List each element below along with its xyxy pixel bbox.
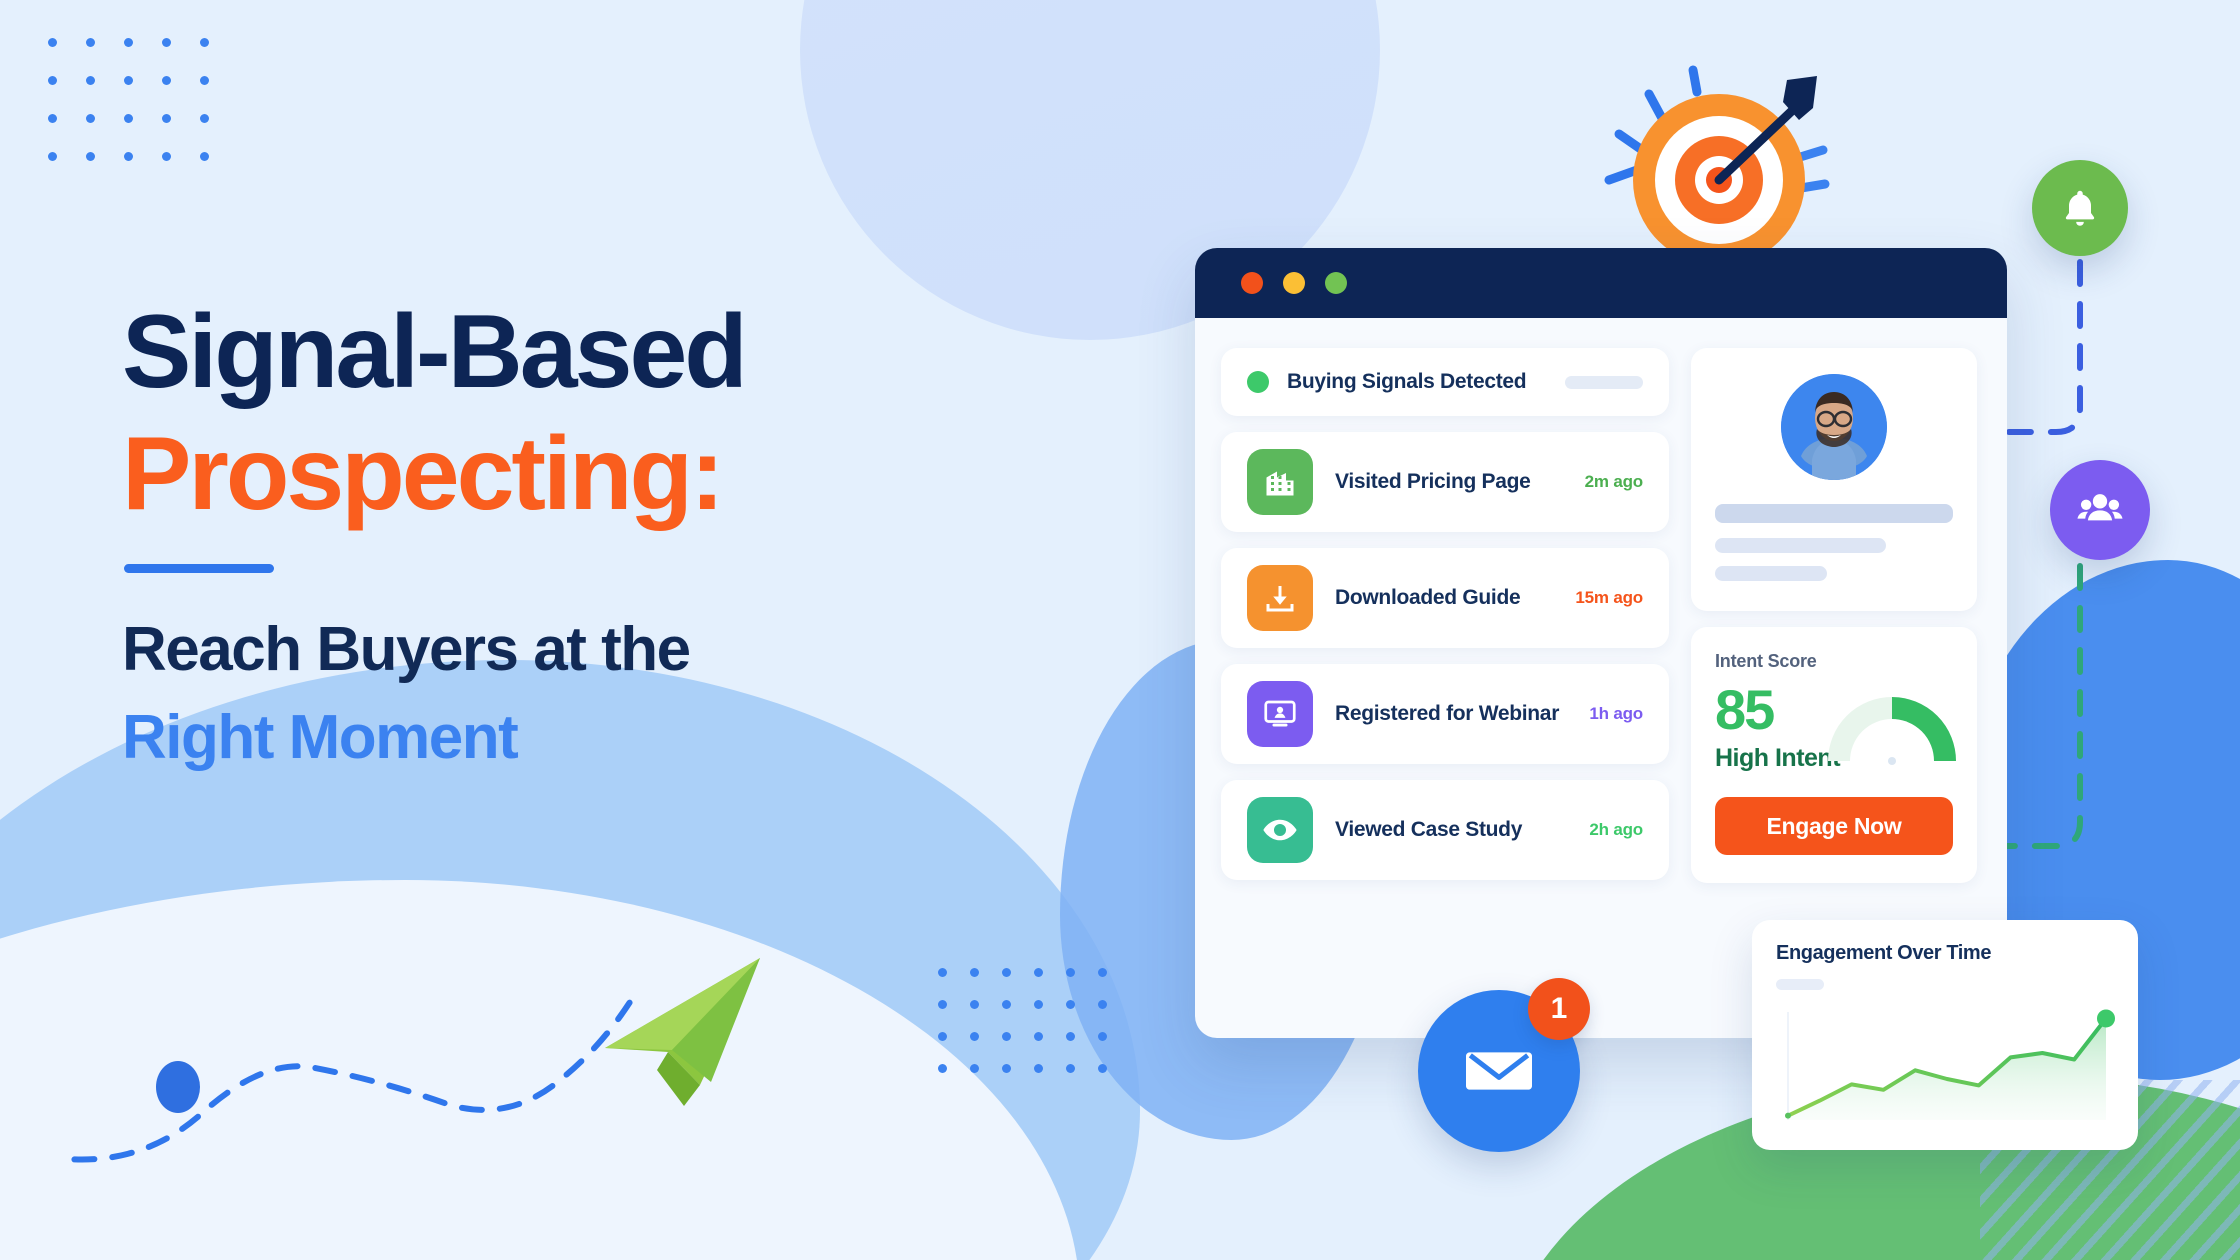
signal-row-registered-webinar[interactable]: Registered for Webinar 1h ago	[1221, 664, 1669, 764]
intent-score-label: Intent Score	[1715, 651, 1953, 672]
signals-panel-header: Buying Signals Detected	[1221, 348, 1669, 416]
window-close-button[interactable]	[1241, 272, 1263, 294]
bell-icon	[2058, 186, 2102, 230]
chart-title: Engagement Over Time	[1776, 942, 2114, 965]
profile-column: Intent Score 85 High Intent Engage Now	[1691, 348, 1977, 883]
building-icon	[1247, 449, 1313, 515]
signal-timestamp: 2h ago	[1589, 820, 1643, 840]
avatar	[1781, 374, 1887, 480]
chart-placeholder-bar	[1776, 979, 1824, 990]
hero-subtitle-line1: Reach Buyers at the	[122, 615, 1102, 684]
profile-skeleton-line-1	[1715, 504, 1953, 523]
signals-column: Buying Signals Detected Visited Pricing …	[1221, 348, 1669, 883]
paper-plane-illustration	[60, 930, 780, 1260]
signal-row-visited-pricing-page[interactable]: Visited Pricing Page 2m ago	[1221, 432, 1669, 532]
notification-bell-badge[interactable]	[2032, 160, 2128, 256]
hero-subtitle-line2: Right Moment	[122, 703, 1102, 772]
signal-label: Viewed Case Study	[1335, 818, 1522, 842]
header-placeholder-bar	[1565, 376, 1643, 389]
hero-divider-rule	[124, 564, 274, 573]
path-start-dot	[156, 1061, 200, 1113]
intent-score-card: Intent Score 85 High Intent Engage Now	[1691, 627, 1977, 883]
profile-skeleton-line-3	[1715, 566, 1827, 581]
signal-timestamp: 2m ago	[1585, 472, 1643, 492]
signal-row-viewed-case-study[interactable]: Viewed Case Study 2h ago	[1221, 780, 1669, 880]
profile-skeleton-line-2	[1715, 538, 1886, 553]
signals-panel-title: Buying Signals Detected	[1287, 370, 1526, 394]
status-indicator-dot	[1247, 371, 1269, 393]
signal-label: Registered for Webinar	[1335, 702, 1559, 726]
window-titlebar	[1195, 248, 2007, 318]
engagement-chart-card: Engagement Over Time	[1752, 920, 2138, 1150]
download-icon	[1247, 565, 1313, 631]
engagement-area-chart	[1774, 1004, 2118, 1137]
signal-label: Visited Pricing Page	[1335, 470, 1531, 494]
webinar-icon	[1247, 681, 1313, 747]
window-maximize-button[interactable]	[1325, 272, 1347, 294]
audience-people-badge[interactable]	[2050, 460, 2150, 560]
email-unread-count-badge: 1	[1528, 978, 1590, 1040]
signal-timestamp: 1h ago	[1589, 704, 1643, 724]
people-icon	[2074, 484, 2126, 536]
hero-title-line1: Signal-Based	[122, 300, 1102, 404]
hero-copy: Signal-Based Prospecting: Reach Buyers a…	[122, 300, 1102, 772]
intent-gauge	[1827, 691, 1957, 772]
signal-row-downloaded-guide[interactable]: Downloaded Guide 15m ago	[1221, 548, 1669, 648]
signal-timestamp: 15m ago	[1575, 588, 1643, 608]
hero-title-line2: Prospecting:	[122, 418, 1102, 530]
engage-now-button[interactable]: Engage Now	[1715, 797, 1953, 855]
envelope-icon	[1459, 1031, 1539, 1111]
signal-label: Downloaded Guide	[1335, 586, 1520, 610]
paper-plane-icon	[605, 958, 760, 1106]
profile-card	[1691, 348, 1977, 611]
window-minimize-button[interactable]	[1283, 272, 1305, 294]
eye-icon	[1247, 797, 1313, 863]
